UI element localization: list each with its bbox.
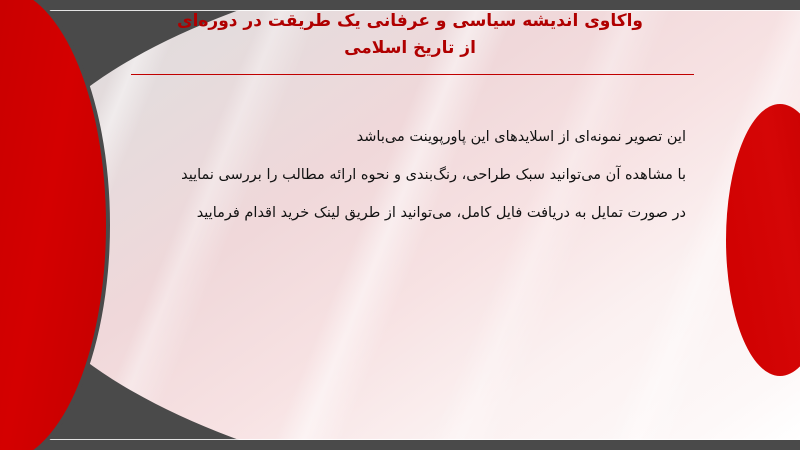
slide-title-line-1: واکاوی اندیشه سیاسی و عرفانی یک طریقت در…: [120, 8, 700, 35]
body-line-1: این تصویر نمونه‌ای از اسلایدهای این پاور…: [120, 118, 686, 156]
slide-frame-bottom: [0, 439, 800, 450]
slide-title: واکاوی اندیشه سیاسی و عرفانی یک طریقت در…: [120, 8, 700, 62]
body-line-2: با مشاهده آن می‌توانید سبک طراحی، رنگ‌بن…: [120, 156, 686, 194]
slide-title-line-2: از تاریخ اسلامی: [120, 35, 700, 62]
red-ellipse-left-decoration: [0, 0, 110, 450]
slide-body-text: این تصویر نمونه‌ای از اسلایدهای این پاور…: [120, 118, 686, 232]
title-underline-rule: [131, 74, 694, 75]
body-line-3: در صورت تمایل به دریافت فایل کامل، می‌تو…: [120, 194, 686, 232]
slide-canvas: واکاوی اندیشه سیاسی و عرفانی یک طریقت در…: [0, 0, 800, 450]
